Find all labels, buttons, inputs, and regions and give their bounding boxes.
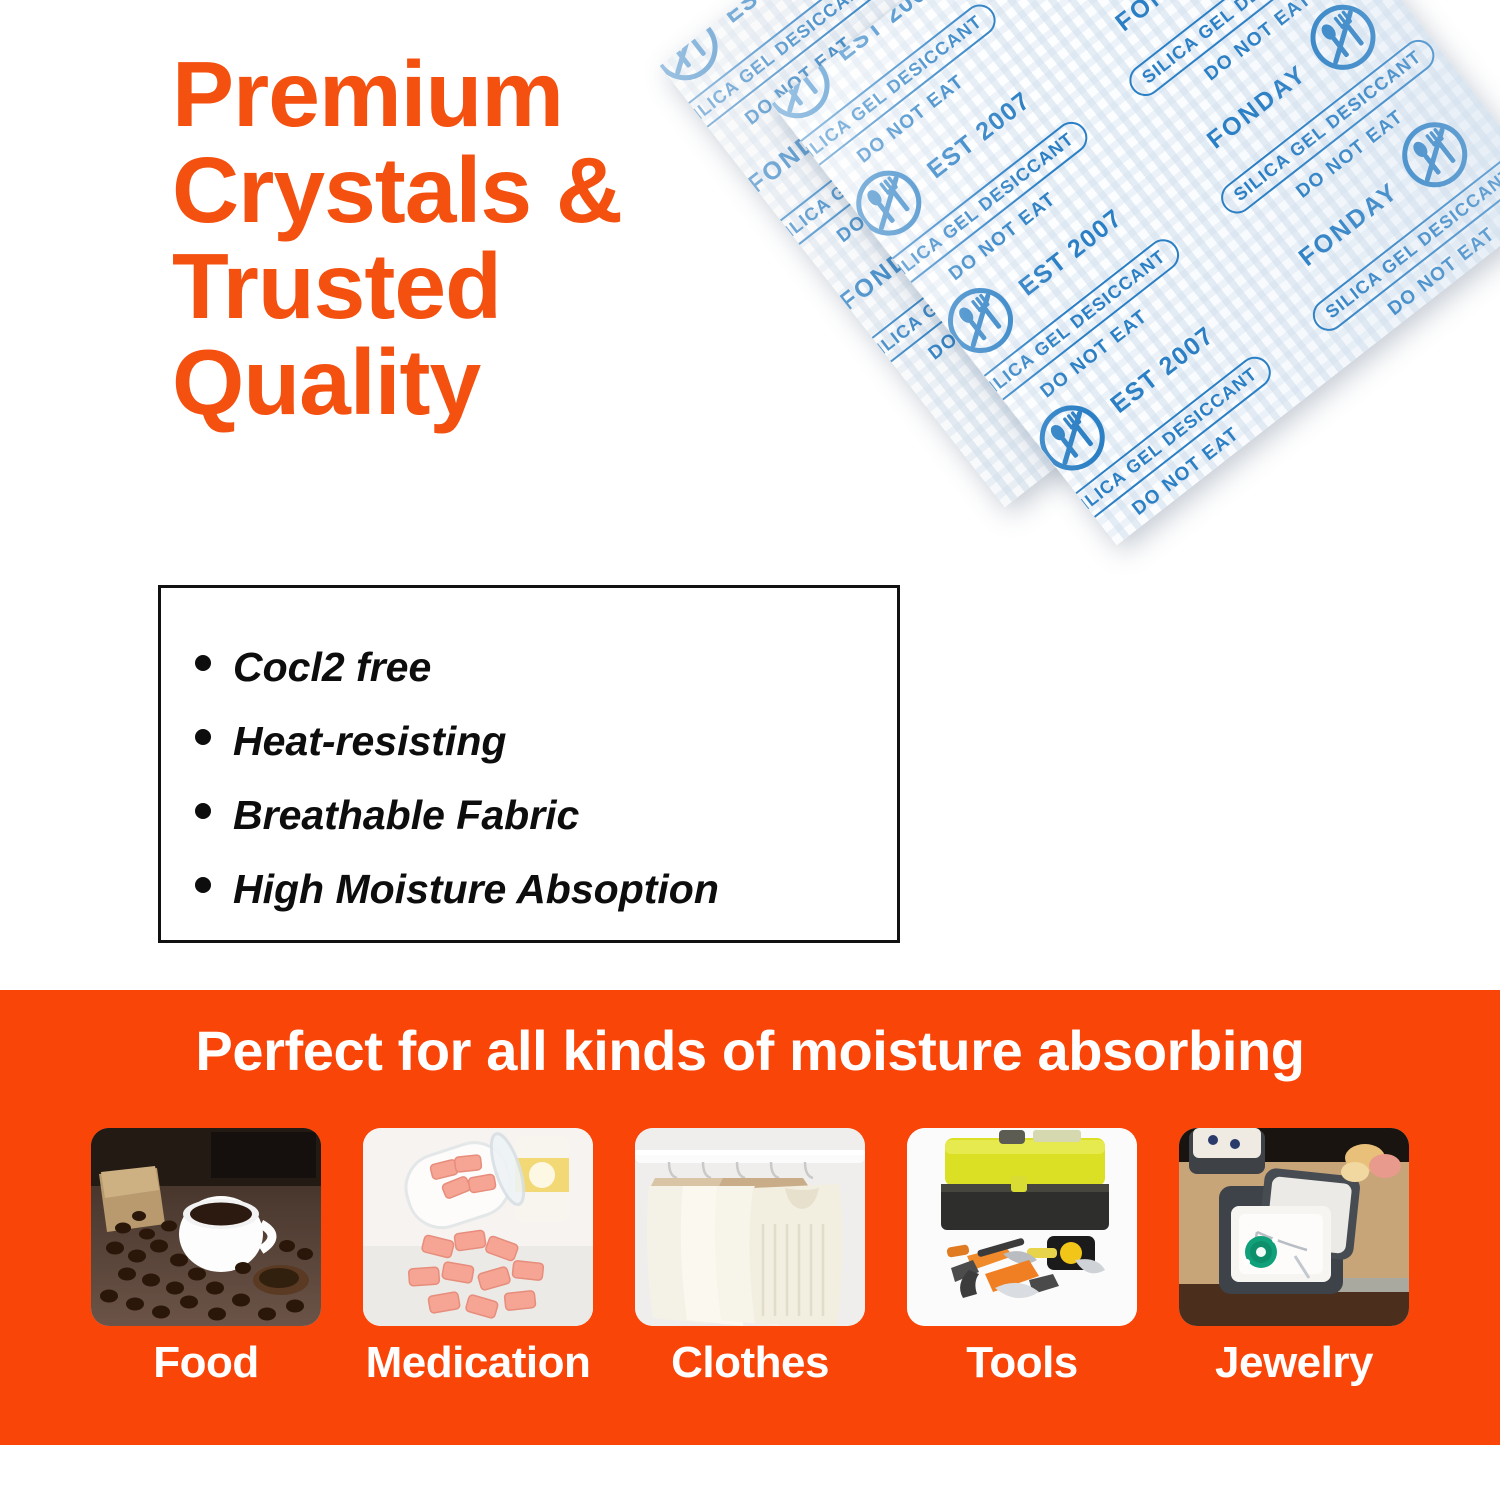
top-section: Premium Crystals & Trusted Quality bbox=[0, 0, 1500, 990]
clothes-thumbnail bbox=[635, 1128, 865, 1326]
feature-label: High Moisture Absoption bbox=[233, 852, 719, 926]
use-case-clothes: Clothes bbox=[635, 1128, 865, 1388]
feature-label: Breathable Fabric bbox=[233, 778, 579, 852]
headline-line-3: Trusted bbox=[172, 238, 692, 334]
use-case-label: Tools bbox=[966, 1338, 1078, 1388]
bullet-icon bbox=[195, 877, 211, 893]
use-cases-banner: Perfect for all kinds of moisture absorb… bbox=[0, 990, 1500, 1445]
feature-label: Heat-resisting bbox=[233, 704, 506, 778]
food-thumbnail bbox=[91, 1128, 321, 1326]
use-case-label: Jewelry bbox=[1215, 1338, 1373, 1388]
use-case-food: Food bbox=[91, 1128, 321, 1388]
use-case-label: Medication bbox=[366, 1338, 591, 1388]
use-case-medication: Medication bbox=[363, 1128, 593, 1388]
list-item: High Moisture Absoption bbox=[195, 852, 897, 926]
feature-label: Cocl2 free bbox=[233, 630, 431, 704]
use-case-tools: Tools bbox=[907, 1128, 1137, 1388]
bullet-icon bbox=[195, 803, 211, 819]
bullet-icon bbox=[195, 655, 211, 671]
tools-thumbnail bbox=[907, 1128, 1137, 1326]
list-item: Cocl2 free bbox=[195, 630, 897, 704]
list-item: Heat-resisting bbox=[195, 704, 897, 778]
feature-list-box: Cocl2 free Heat-resisting Breathable Fab… bbox=[158, 585, 900, 943]
use-case-jewelry: Jewelry bbox=[1179, 1128, 1409, 1388]
product-infographic: Premium Crystals & Trusted Quality bbox=[0, 0, 1500, 1500]
jewelry-thumbnail bbox=[1179, 1128, 1409, 1326]
list-item: Breathable Fabric bbox=[195, 778, 897, 852]
headline-line-4: Quality bbox=[172, 334, 692, 430]
page-title: Premium Crystals & Trusted Quality bbox=[172, 46, 692, 430]
headline-line-2: Crystals & bbox=[172, 142, 692, 238]
use-case-list: Food bbox=[0, 1128, 1500, 1388]
use-case-label: Clothes bbox=[671, 1338, 829, 1388]
headline-line-1: Premium bbox=[172, 46, 692, 142]
bullet-icon bbox=[195, 729, 211, 745]
use-case-label: Food bbox=[153, 1338, 259, 1388]
medication-thumbnail bbox=[363, 1128, 593, 1326]
feature-list: Cocl2 free Heat-resisting Breathable Fab… bbox=[161, 588, 897, 926]
banner-title: Perfect for all kinds of moisture absorb… bbox=[195, 1018, 1304, 1083]
